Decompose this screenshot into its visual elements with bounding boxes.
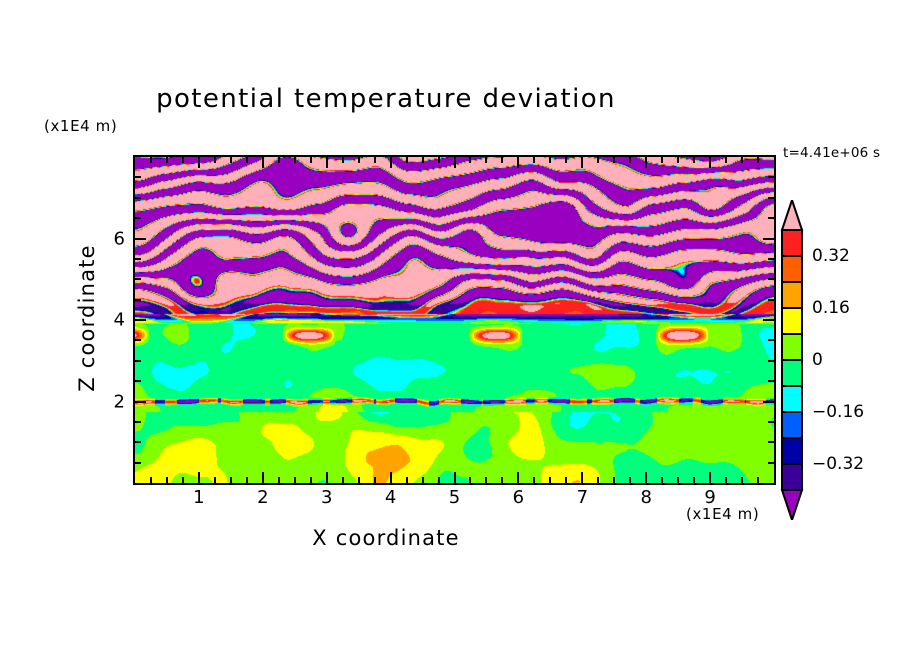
x-tick <box>182 477 184 483</box>
colorbar-over-arrow <box>782 200 802 230</box>
x-tick <box>342 477 344 483</box>
x-tick-top <box>454 157 456 168</box>
x-tick-top <box>677 157 679 163</box>
x-tick-top <box>246 157 248 163</box>
x-tick <box>757 477 759 483</box>
x-tick-label: 9 <box>690 487 730 508</box>
x-tick <box>581 472 583 483</box>
x-tick <box>278 477 280 483</box>
x-tick <box>517 472 519 483</box>
x-tick <box>438 477 440 483</box>
time-annotation: t=4.41e+06 s <box>783 145 880 161</box>
colorbar-tick-label: −0.32 <box>812 454 864 474</box>
x-tick <box>629 477 631 483</box>
x-tick-top <box>597 157 599 163</box>
x-tick <box>533 477 535 483</box>
x-tick <box>406 477 408 483</box>
y-tick-right <box>768 441 774 443</box>
x-tick-top <box>741 157 743 163</box>
x-tick <box>230 477 232 483</box>
x-tick-top <box>342 157 344 163</box>
x-tick-top <box>517 157 519 168</box>
x-tick-top <box>310 157 312 163</box>
x-tick-label: 7 <box>562 487 602 508</box>
colorbar-band <box>782 282 802 308</box>
x-tick-top <box>390 157 392 168</box>
x-tick-top <box>438 157 440 163</box>
x-tick <box>454 472 456 483</box>
y-tick <box>135 380 141 382</box>
x-tick-top <box>294 157 296 163</box>
y-axis-unit-label: (x1E4 m) <box>44 117 117 135</box>
x-tick-top <box>182 157 184 163</box>
x-tick-top <box>262 157 264 168</box>
y-tick <box>135 258 141 260</box>
colorbar-band <box>782 464 802 490</box>
x-tick <box>709 472 711 483</box>
x-tick-label: 8 <box>626 487 666 508</box>
x-tick-top <box>629 157 631 163</box>
x-tick <box>374 477 376 483</box>
y-tick-right <box>763 238 774 240</box>
colorbar-tick-label: 0 <box>812 350 823 370</box>
colorbar-band <box>782 438 802 464</box>
x-tick-top <box>533 157 535 163</box>
x-tick-top <box>757 157 759 163</box>
x-tick-top <box>693 157 695 163</box>
y-tick-right <box>768 197 774 199</box>
y-tick-right <box>768 217 774 219</box>
y-tick-right <box>768 258 774 260</box>
x-tick-top <box>725 157 727 163</box>
y-tick-right <box>763 319 774 321</box>
x-tick <box>166 477 168 483</box>
y-tick <box>135 176 141 178</box>
x-tick <box>597 477 599 483</box>
colorbar-band <box>782 256 802 282</box>
x-tick-top <box>501 157 503 163</box>
x-tick <box>501 477 503 483</box>
x-tick-label: 5 <box>435 487 475 508</box>
x-tick <box>214 477 216 483</box>
x-tick <box>741 477 743 483</box>
x-tick-top <box>645 157 647 168</box>
x-tick <box>693 477 695 483</box>
y-tick <box>135 339 141 341</box>
y-tick <box>135 462 141 464</box>
x-tick <box>613 477 615 483</box>
x-tick <box>326 472 328 483</box>
y-tick <box>135 278 141 280</box>
x-tick-top <box>565 157 567 163</box>
x-tick <box>310 477 312 483</box>
x-tick-top <box>374 157 376 163</box>
x-tick <box>358 477 360 483</box>
y-tick <box>135 197 141 199</box>
x-tick <box>390 472 392 483</box>
x-tick-label: 2 <box>243 487 283 508</box>
x-tick-top <box>214 157 216 163</box>
x-tick-top <box>358 157 360 163</box>
x-tick <box>246 477 248 483</box>
colorbar-band <box>782 334 802 360</box>
y-tick-right <box>768 339 774 341</box>
x-tick-label: 1 <box>179 487 219 508</box>
y-tick <box>135 441 141 443</box>
x-tick <box>294 477 296 483</box>
heatmap-field <box>135 157 774 483</box>
colorbar-band <box>782 360 802 386</box>
x-tick-label: 3 <box>307 487 347 508</box>
y-tick <box>135 238 146 240</box>
page-title: potential temperature deviation <box>0 84 772 114</box>
x-tick-top <box>150 157 152 163</box>
x-tick <box>422 477 424 483</box>
x-tick-top <box>549 157 551 163</box>
y-tick-right <box>768 176 774 178</box>
x-tick <box>645 472 647 483</box>
y-tick-right <box>763 401 774 403</box>
x-tick-top <box>166 157 168 163</box>
x-tick-top <box>278 157 280 163</box>
plot-area <box>133 155 776 485</box>
x-tick <box>469 477 471 483</box>
colorbar <box>779 200 805 520</box>
x-tick-top <box>469 157 471 163</box>
x-tick <box>677 477 679 483</box>
y-tick-right <box>768 462 774 464</box>
x-tick <box>725 477 727 483</box>
x-tick <box>485 477 487 483</box>
x-tick-top <box>422 157 424 163</box>
x-tick-top <box>198 157 200 168</box>
y-tick <box>135 217 141 219</box>
x-tick-top <box>485 157 487 163</box>
x-tick-top <box>613 157 615 163</box>
x-tick <box>262 472 264 483</box>
x-tick <box>661 477 663 483</box>
y-tick-label: 2 <box>85 391 125 412</box>
y-tick <box>135 360 141 362</box>
x-tick <box>198 472 200 483</box>
colorbar-under-arrow <box>782 490 802 520</box>
y-tick <box>135 421 141 423</box>
colorbar-tick-label: 0.32 <box>812 246 850 266</box>
y-tick <box>135 319 146 321</box>
colorbar-band <box>782 308 802 334</box>
colorbar-svg <box>779 200 805 520</box>
y-tick-label: 4 <box>85 310 125 331</box>
x-tick <box>150 477 152 483</box>
y-tick-right <box>768 278 774 280</box>
x-tick-top <box>230 157 232 163</box>
y-tick <box>135 299 141 301</box>
x-tick-label: 4 <box>371 487 411 508</box>
y-tick-right <box>768 360 774 362</box>
x-tick-label: 6 <box>498 487 538 508</box>
x-tick-top <box>326 157 328 168</box>
y-tick-right <box>768 380 774 382</box>
colorbar-band <box>782 412 802 438</box>
x-tick-top <box>406 157 408 163</box>
y-tick-right <box>768 299 774 301</box>
x-tick <box>549 477 551 483</box>
y-tick-right <box>768 421 774 423</box>
x-tick <box>565 477 567 483</box>
colorbar-band <box>782 230 802 256</box>
x-tick-top <box>709 157 711 168</box>
y-tick <box>135 401 146 403</box>
x-axis-title: X coordinate <box>0 526 772 550</box>
colorbar-tick-label: 0.16 <box>812 298 850 318</box>
y-tick-label: 6 <box>85 228 125 249</box>
x-tick-top <box>661 157 663 163</box>
x-tick-top <box>581 157 583 168</box>
colorbar-tick-label: −0.16 <box>812 402 864 422</box>
colorbar-band <box>782 386 802 412</box>
